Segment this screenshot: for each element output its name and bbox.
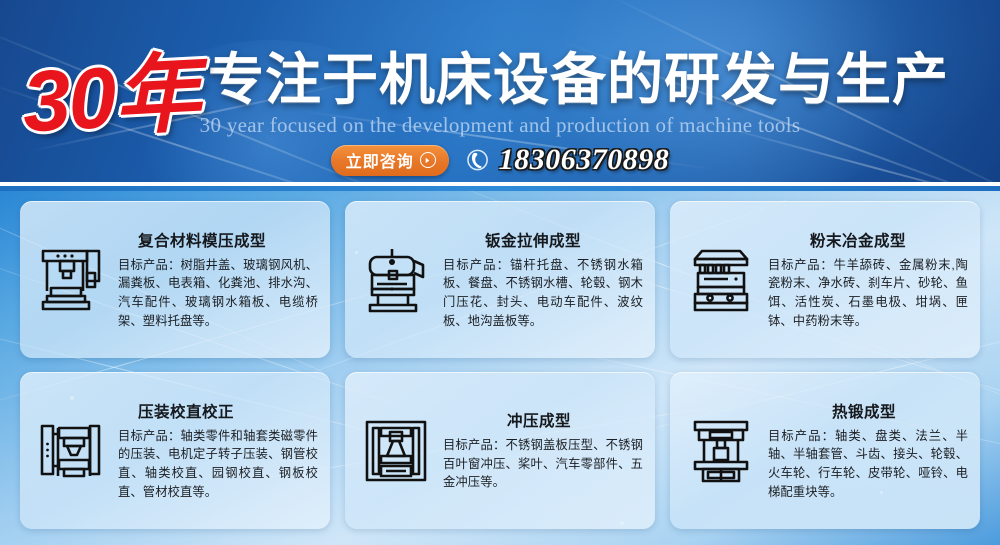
cards-section: 复合材料模压成型 目标产品：树脂井盖、玻璃钢风机、漏粪板、电表箱、化粪池、排水沟… — [0, 191, 1000, 545]
card-description: 目标产品：锚杆托盘、不锈钢水箱板、餐盘、不锈钢水槽、轮毂、钢木门压花、封头、电动… — [443, 256, 643, 331]
card-title: 压装校直校正 — [118, 400, 318, 422]
card-stamping[interactable]: 冲压成型 目标产品：不锈钢盖板压型、不锈钢百叶窗冲压、桨叶、汽车零部件、五金冲压… — [345, 372, 655, 529]
card-title: 复合材料模压成型 — [118, 229, 318, 251]
consult-button-label: 立即咨询 — [346, 148, 414, 172]
years-badge-text: 30年 — [11, 21, 209, 157]
phone-icon — [467, 147, 490, 173]
stamping-press-icon — [355, 410, 437, 492]
phone-number: 18306370898 — [499, 143, 670, 177]
card-description: 目标产品：不锈钢盖板压型、不锈钢百叶窗冲压、桨叶、汽车零部件、五金冲压等。 — [443, 436, 643, 492]
header-banner: 30年 专注于机床设备的研发与生产 30 year focused on the… — [0, 0, 1000, 182]
hot-forging-press-icon — [680, 410, 762, 492]
molding-press-icon — [30, 239, 112, 321]
card-description: 目标产品：牛羊舔砖、金属粉末,陶瓷粉末、净水砖、刹车片、砂轮、鱼饵、活性炭、石墨… — [768, 256, 968, 331]
card-body: 热锻成型 目标产品：轴类、盘类、法兰、半轴、半轴套管、斗齿、接头、轮毂、火车轮、… — [768, 400, 968, 502]
card-sheet-metal-drawing[interactable]: 钣金拉伸成型 目标产品：锚杆托盘、不锈钢水箱板、餐盘、不锈钢水槽、轮毂、钢木门压… — [345, 201, 655, 358]
arrow-right-icon — [420, 152, 436, 168]
divider-blue — [0, 186, 1000, 191]
sheet-metal-press-icon — [355, 239, 437, 321]
powder-metallurgy-press-icon — [680, 239, 762, 321]
straightening-press-icon — [30, 410, 112, 492]
card-body: 钣金拉伸成型 目标产品：锚杆托盘、不锈钢水箱板、餐盘、不锈钢水槽、轮毂、钢木门压… — [443, 229, 643, 331]
card-composite-molding[interactable]: 复合材料模压成型 目标产品：树脂井盖、玻璃钢风机、漏粪板、电表箱、化粪池、排水沟… — [20, 201, 330, 358]
card-description: 目标产品：轴类、盘类、法兰、半轴、半轴套管、斗齿、接头、轮毂、火车轮、行车轮、皮… — [768, 427, 968, 502]
card-title: 热锻成型 — [768, 400, 968, 422]
card-description: 目标产品：树脂井盖、玻璃钢风机、漏粪板、电表箱、化粪池、排水沟、汽车配件、玻璃钢… — [118, 256, 318, 331]
card-body: 复合材料模压成型 目标产品：树脂井盖、玻璃钢风机、漏粪板、电表箱、化粪池、排水沟… — [118, 229, 318, 331]
consult-now-button[interactable]: 立即咨询 — [331, 145, 449, 176]
card-hot-forging[interactable]: 热锻成型 目标产品：轴类、盘类、法兰、半轴、半轴套管、斗齿、接头、轮毂、火车轮、… — [670, 372, 980, 529]
card-body: 粉末冶金成型 目标产品：牛羊舔砖、金属粉末,陶瓷粉末、净水砖、刹车片、砂轮、鱼饵… — [768, 229, 968, 331]
cta-row: 立即咨询 18306370898 — [0, 143, 1000, 177]
phone-group: 18306370898 — [467, 143, 670, 177]
card-title: 粉末冶金成型 — [768, 229, 968, 251]
card-title: 钣金拉伸成型 — [443, 229, 643, 251]
years-badge: 30年 — [14, 26, 206, 152]
card-grid: 复合材料模压成型 目标产品：树脂井盖、玻璃钢风机、漏粪板、电表箱、化粪池、排水沟… — [0, 191, 1000, 545]
card-title: 冲压成型 — [443, 409, 643, 431]
card-body: 冲压成型 目标产品：不锈钢盖板压型、不锈钢百叶窗冲压、桨叶、汽车零部件、五金冲压… — [443, 409, 643, 492]
banner-root: 30年 专注于机床设备的研发与生产 30 year focused on the… — [0, 0, 1000, 545]
card-powder-metallurgy[interactable]: 粉末冶金成型 目标产品：牛羊舔砖、金属粉末,陶瓷粉末、净水砖、刹车片、砂轮、鱼饵… — [670, 201, 980, 358]
card-body: 压装校直校正 目标产品：轴类零件和轴套类磁零件的压装、电机定子转子压装、钢管校直… — [118, 400, 318, 502]
card-press-fit-straightening[interactable]: 压装校直校正 目标产品：轴类零件和轴套类磁零件的压装、电机定子转子压装、钢管校直… — [20, 372, 330, 529]
card-description: 目标产品：轴类零件和轴套类磁零件的压装、电机定子转子压装、钢管校直、轴类校直、园… — [118, 427, 318, 502]
headline: 专注于机床设备的研发与生产 — [208, 42, 998, 108]
